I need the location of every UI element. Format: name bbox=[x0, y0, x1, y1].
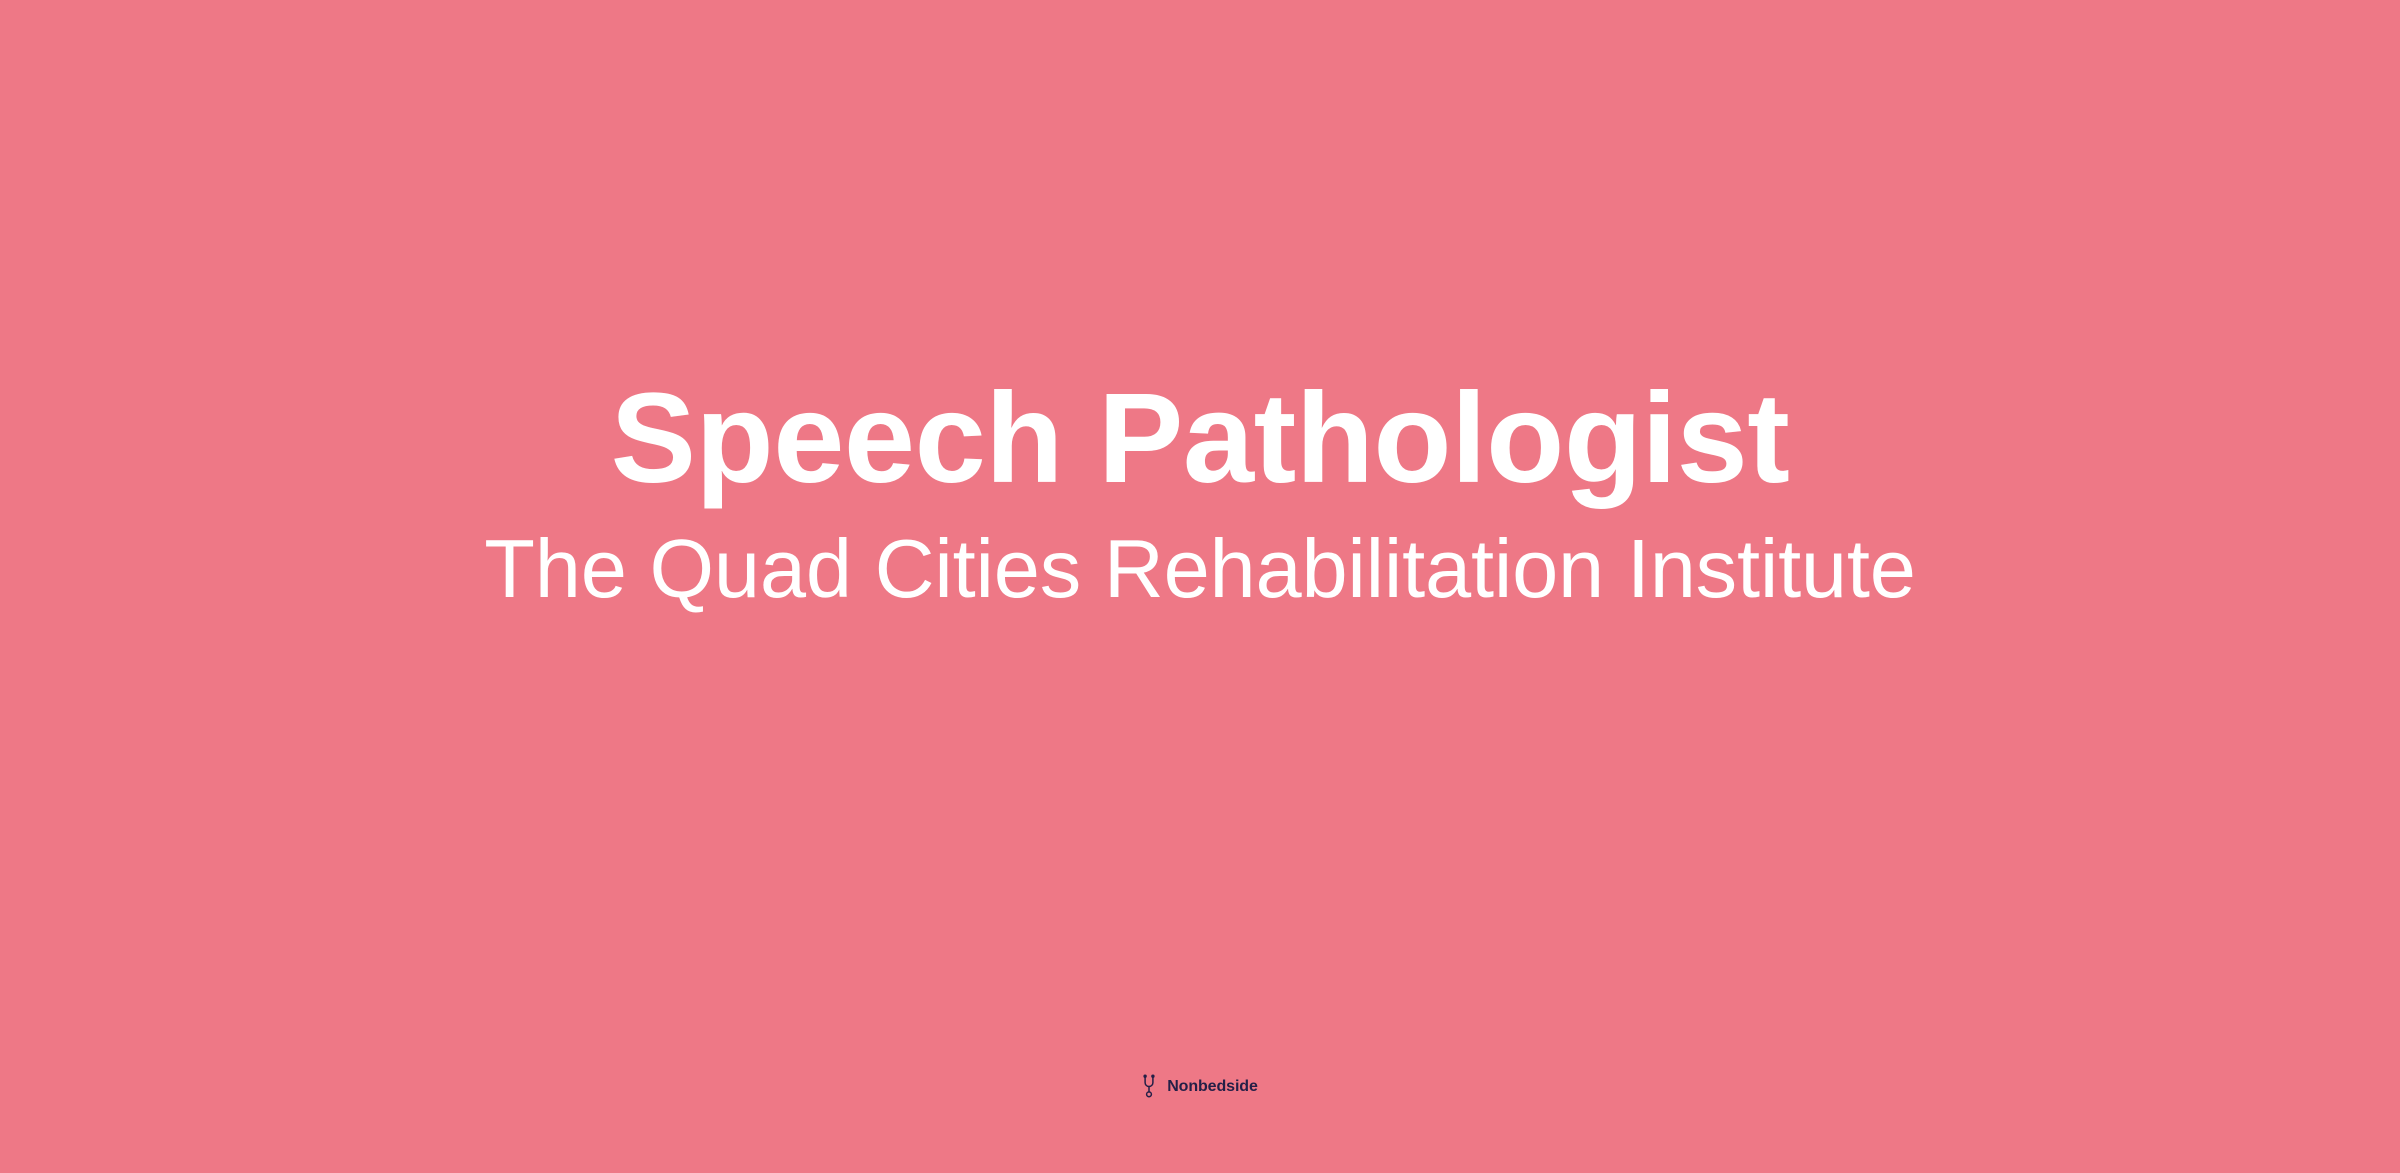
brand-logo[interactable]: Nonbedside bbox=[0, 1074, 2400, 1099]
page-title: Speech Pathologist bbox=[611, 375, 1790, 503]
brand-wordmark: Nonbedside bbox=[1167, 1079, 1258, 1095]
employer-name: The Quad Cities Rehabilitation Institute bbox=[484, 503, 1915, 612]
job-posting-card: Speech Pathologist The Quad Cities Rehab… bbox=[0, 0, 2400, 1173]
headline-block: Speech Pathologist The Quad Cities Rehab… bbox=[0, 0, 2400, 1173]
stethoscope-icon bbox=[1142, 1074, 1161, 1099]
